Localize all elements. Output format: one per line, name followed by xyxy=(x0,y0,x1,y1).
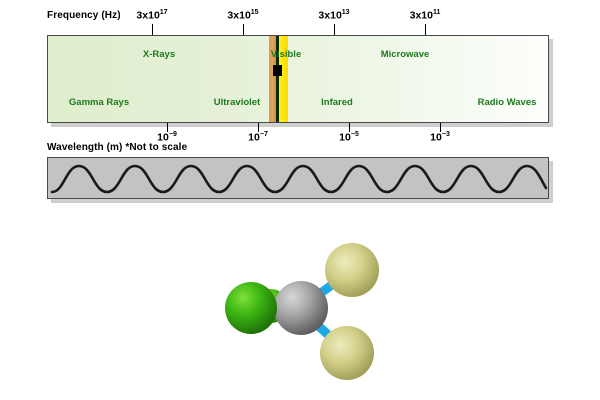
green-atom-front xyxy=(225,282,277,334)
wavelength-axis-title: Wavelength (m) *Not to scale xyxy=(47,142,187,153)
band-label-microwave: Microwave xyxy=(381,49,430,60)
band-label-gamma-rays: Gamma Rays xyxy=(69,97,129,108)
frequency-tick-label: 3x1017 xyxy=(136,9,167,22)
frequency-tick-exponent: 17 xyxy=(160,9,168,16)
wavelength-tick-exponent: −9 xyxy=(169,131,177,138)
wavelength-tick-exponent: −3 xyxy=(442,131,450,138)
frequency-tick-mark xyxy=(334,24,335,35)
frequency-tick-mantissa: 3x10 xyxy=(136,10,159,22)
molecule-diagram xyxy=(215,240,395,380)
sine-wave-path xyxy=(52,166,546,192)
frequency-tick-mark xyxy=(152,24,153,35)
band-label-visible: Visible xyxy=(271,49,301,60)
band-label-x-rays: X-Rays xyxy=(143,49,175,60)
frequency-tick-exponent: 11 xyxy=(433,9,440,16)
band-label-ultraviolet: Ultraviolet xyxy=(214,97,260,108)
frequency-tick-mantissa: 3x10 xyxy=(227,10,250,22)
frequency-tick-exponent: 13 xyxy=(342,9,350,16)
wave-panel xyxy=(47,157,549,199)
wavelength-tick-mantissa: 10 xyxy=(248,132,260,144)
wavelength-tick-exponent: −5 xyxy=(351,131,359,138)
wavelength-tick-label: 10−5 xyxy=(339,131,359,144)
carbon-atom xyxy=(274,281,328,335)
band-label-infrared: Infared xyxy=(321,97,353,108)
sine-wave-graphic xyxy=(48,158,548,198)
frequency-tick-label: 3x1015 xyxy=(227,9,258,22)
yellow-atom-bottom xyxy=(320,326,374,380)
frequency-axis-title: Frequency (Hz) xyxy=(47,10,121,21)
wavelength-tick-mantissa: 10 xyxy=(339,132,351,144)
frequency-tick-mantissa: 3x10 xyxy=(410,10,433,22)
diagram-canvas: Frequency (Hz) 3x1017 3x1015 3x1013 3x10… xyxy=(0,0,600,400)
wavelength-tick-label: 10−7 xyxy=(248,131,268,144)
frequency-tick-label: 3x1011 xyxy=(410,9,441,22)
frequency-tick-mantissa: 3x10 xyxy=(318,10,341,22)
electromagnetic-spectrum-box: X-Rays Visible Microwave Gamma Rays Ultr… xyxy=(47,35,549,123)
wavelength-tick-exponent: −7 xyxy=(260,131,268,138)
frequency-tick-mark xyxy=(425,24,426,35)
frequency-tick-mark xyxy=(243,24,244,35)
yellow-atom-top xyxy=(325,243,379,297)
band-label-radio-waves: Radio Waves xyxy=(478,97,537,108)
wavelength-tick-mantissa: 10 xyxy=(430,132,442,144)
wavelength-position-marker xyxy=(273,65,282,76)
frequency-tick-label: 3x1013 xyxy=(318,9,349,22)
wavelength-tick-label: 10−3 xyxy=(430,131,450,144)
frequency-tick-exponent: 15 xyxy=(251,9,259,16)
